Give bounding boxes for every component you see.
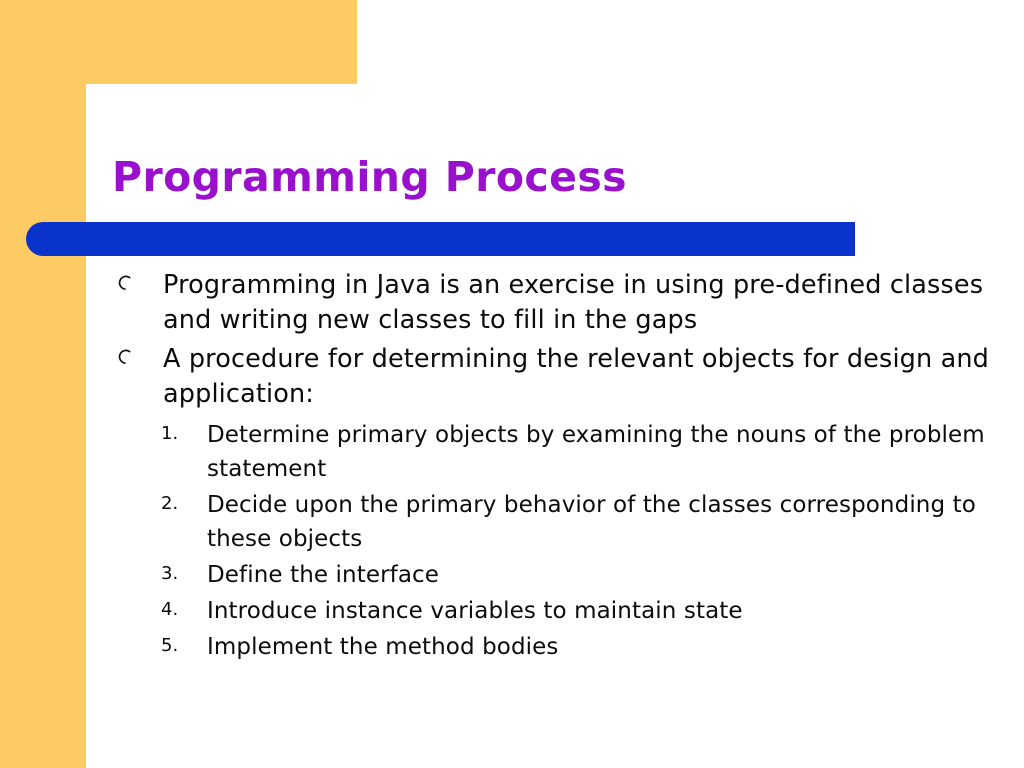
list-item-text: Determine primary objects by examining t…	[207, 422, 985, 482]
list-item: 4. Introduce instance variables to maint…	[110, 594, 1000, 628]
list-item: Programming in Java is an exercise in us…	[110, 268, 1000, 338]
numbered-list: 1. Determine primary objects by examinin…	[110, 418, 1000, 664]
list-item-number: 4.	[161, 599, 195, 621]
list-item-text: Define the interface	[207, 562, 439, 588]
list-item-number: 2.	[161, 493, 195, 515]
list-item-number: 1.	[161, 423, 195, 445]
list-item-text: Decide upon the primary behavior of the …	[207, 492, 976, 552]
list-item: 2. Decide upon the primary behavior of t…	[110, 488, 1000, 556]
list-item: 1. Determine primary objects by examinin…	[110, 418, 1000, 486]
decorative-yellow-top-block	[0, 0, 357, 84]
list-item-text: Programming in Java is an exercise in us…	[163, 270, 983, 335]
list-item-number: 5.	[161, 635, 195, 657]
arc-bullet-icon	[116, 274, 133, 291]
list-item-number: 3.	[161, 563, 195, 585]
list-item-text: Implement the method bodies	[207, 634, 558, 660]
slide-canvas: Programming Process Programming in Java …	[0, 0, 1024, 768]
page-title: Programming Process	[112, 152, 912, 202]
list-item: A procedure for determining the relevant…	[110, 342, 1000, 412]
list-item-text: Introduce instance variables to maintain…	[207, 598, 743, 624]
arc-bullet-icon	[116, 348, 133, 365]
decorative-yellow-left-stripe	[0, 0, 86, 768]
list-item-text: A procedure for determining the relevant…	[163, 344, 989, 409]
list-item: 3. Define the interface	[110, 558, 1000, 592]
list-item: 5. Implement the method bodies	[110, 630, 1000, 664]
title-accent-bar	[26, 222, 855, 256]
slide-body: Programming in Java is an exercise in us…	[110, 268, 1000, 666]
